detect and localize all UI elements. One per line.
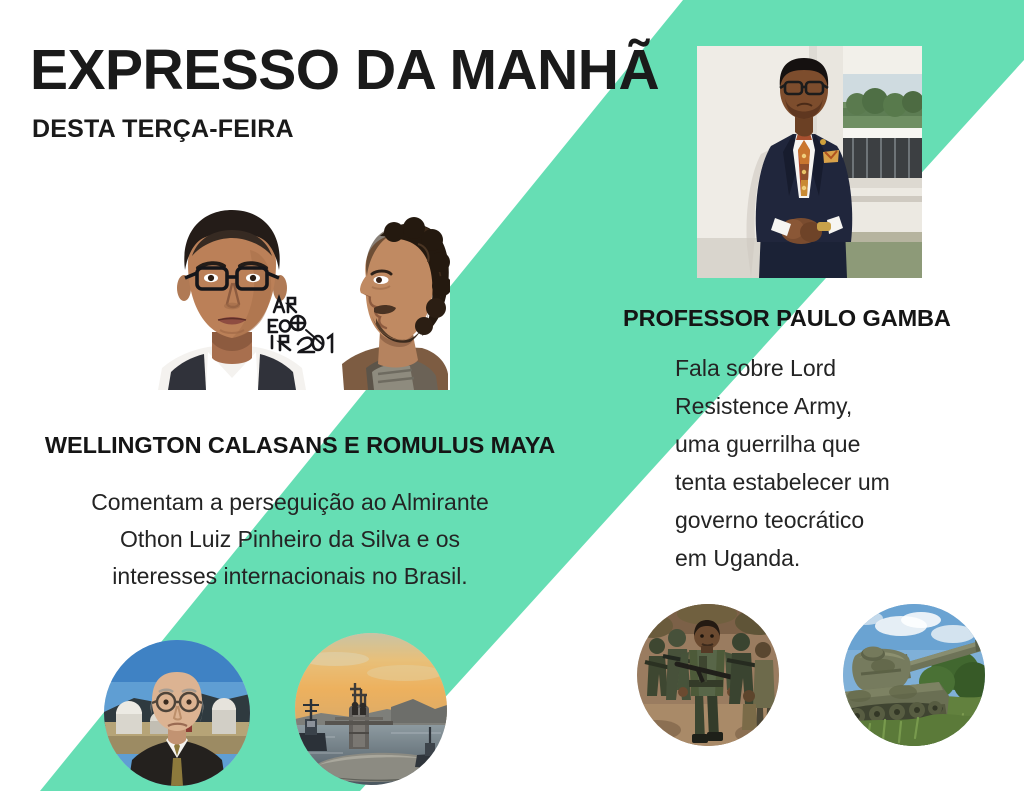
right-body-line: em Uganda. <box>675 539 965 577</box>
page-subtitle: DESTA TERÇA-FEIRA <box>32 115 670 144</box>
submarine-photo-thumb <box>295 633 447 785</box>
right-body-line: Fala sobre Lord <box>675 349 965 387</box>
right-body-line: uma guerrilha que <box>675 425 965 463</box>
right-headline: PROFESSOR PAULO GAMBA <box>623 305 951 332</box>
astronomer-portrait-thumb <box>104 640 250 786</box>
masthead: EXPRESSO DA MANHÃ DESTA TERÇA-FEIRA <box>30 42 670 144</box>
right-body-line: governo teocrático <box>675 501 965 539</box>
left-body-line: Othon Luiz Pinheiro da Silva e os <box>10 521 570 558</box>
paulo-gamba-photo <box>697 46 922 278</box>
page-title: EXPRESSO DA MANHÃ <box>30 42 670 99</box>
poster-canvas: EXPRESSO DA MANHÃ DESTA TERÇA-FEIRA <box>0 0 1024 791</box>
guerrilla-fighters-photo-thumb <box>637 604 779 746</box>
left-body-line: interesses internacionais no Brasil. <box>10 558 570 595</box>
left-body-text: Comentam a perseguição ao Almirante Otho… <box>10 484 570 595</box>
right-body-line: Resistence Army, <box>675 387 965 425</box>
tank-photo-thumb <box>843 604 985 746</box>
right-body-text: Fala sobre Lord Resistence Army, uma gue… <box>675 349 965 577</box>
left-headline: WELLINGTON CALASANS E ROMULUS MAYA <box>0 432 600 459</box>
left-body-line: Comentam a perseguição ao Almirante <box>10 484 570 521</box>
portrait-illustration <box>122 192 450 390</box>
right-body-line: tenta estabelecer um <box>675 463 965 501</box>
